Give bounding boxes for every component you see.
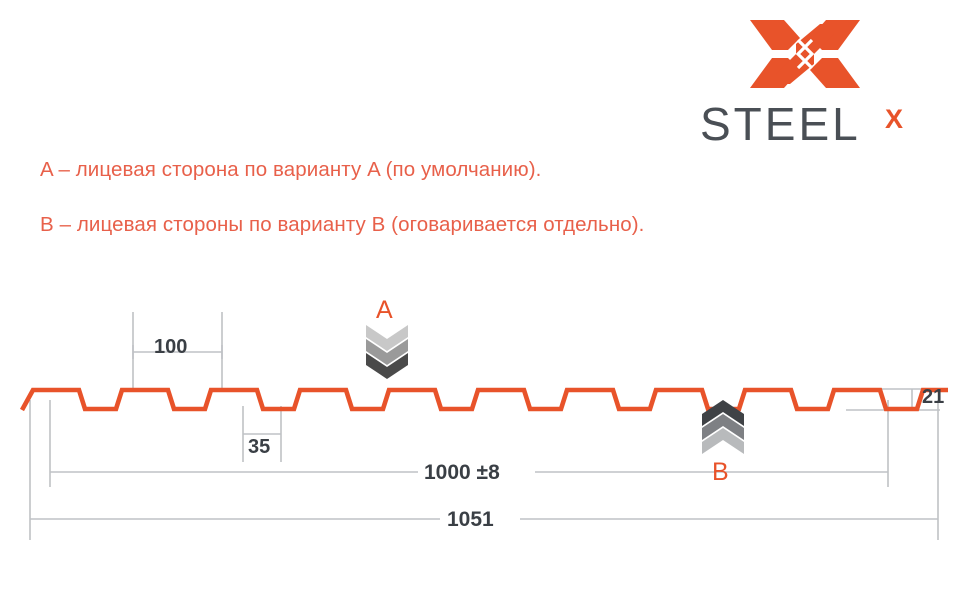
- dimension-label-total-width: 1051: [447, 508, 494, 532]
- drawing-canvas: STEEL X A – лицевая сторона по варианту …: [0, 0, 970, 593]
- dimension-label-rib-pitch: 100: [154, 336, 187, 359]
- corrugated-profile-path: [22, 390, 948, 410]
- marker-b-chevron-up-icon: [702, 400, 744, 454]
- dimension-label-effective-width: 1000 ±8: [424, 461, 500, 485]
- technical-drawing: [0, 0, 970, 593]
- dimension-label-profile-height: 21: [922, 386, 944, 409]
- marker-a-label: A: [376, 296, 393, 325]
- dimension-label-valley-width: 35: [248, 436, 270, 459]
- marker-b-label: B: [712, 458, 729, 487]
- marker-a-chevron-down-icon: [366, 325, 408, 379]
